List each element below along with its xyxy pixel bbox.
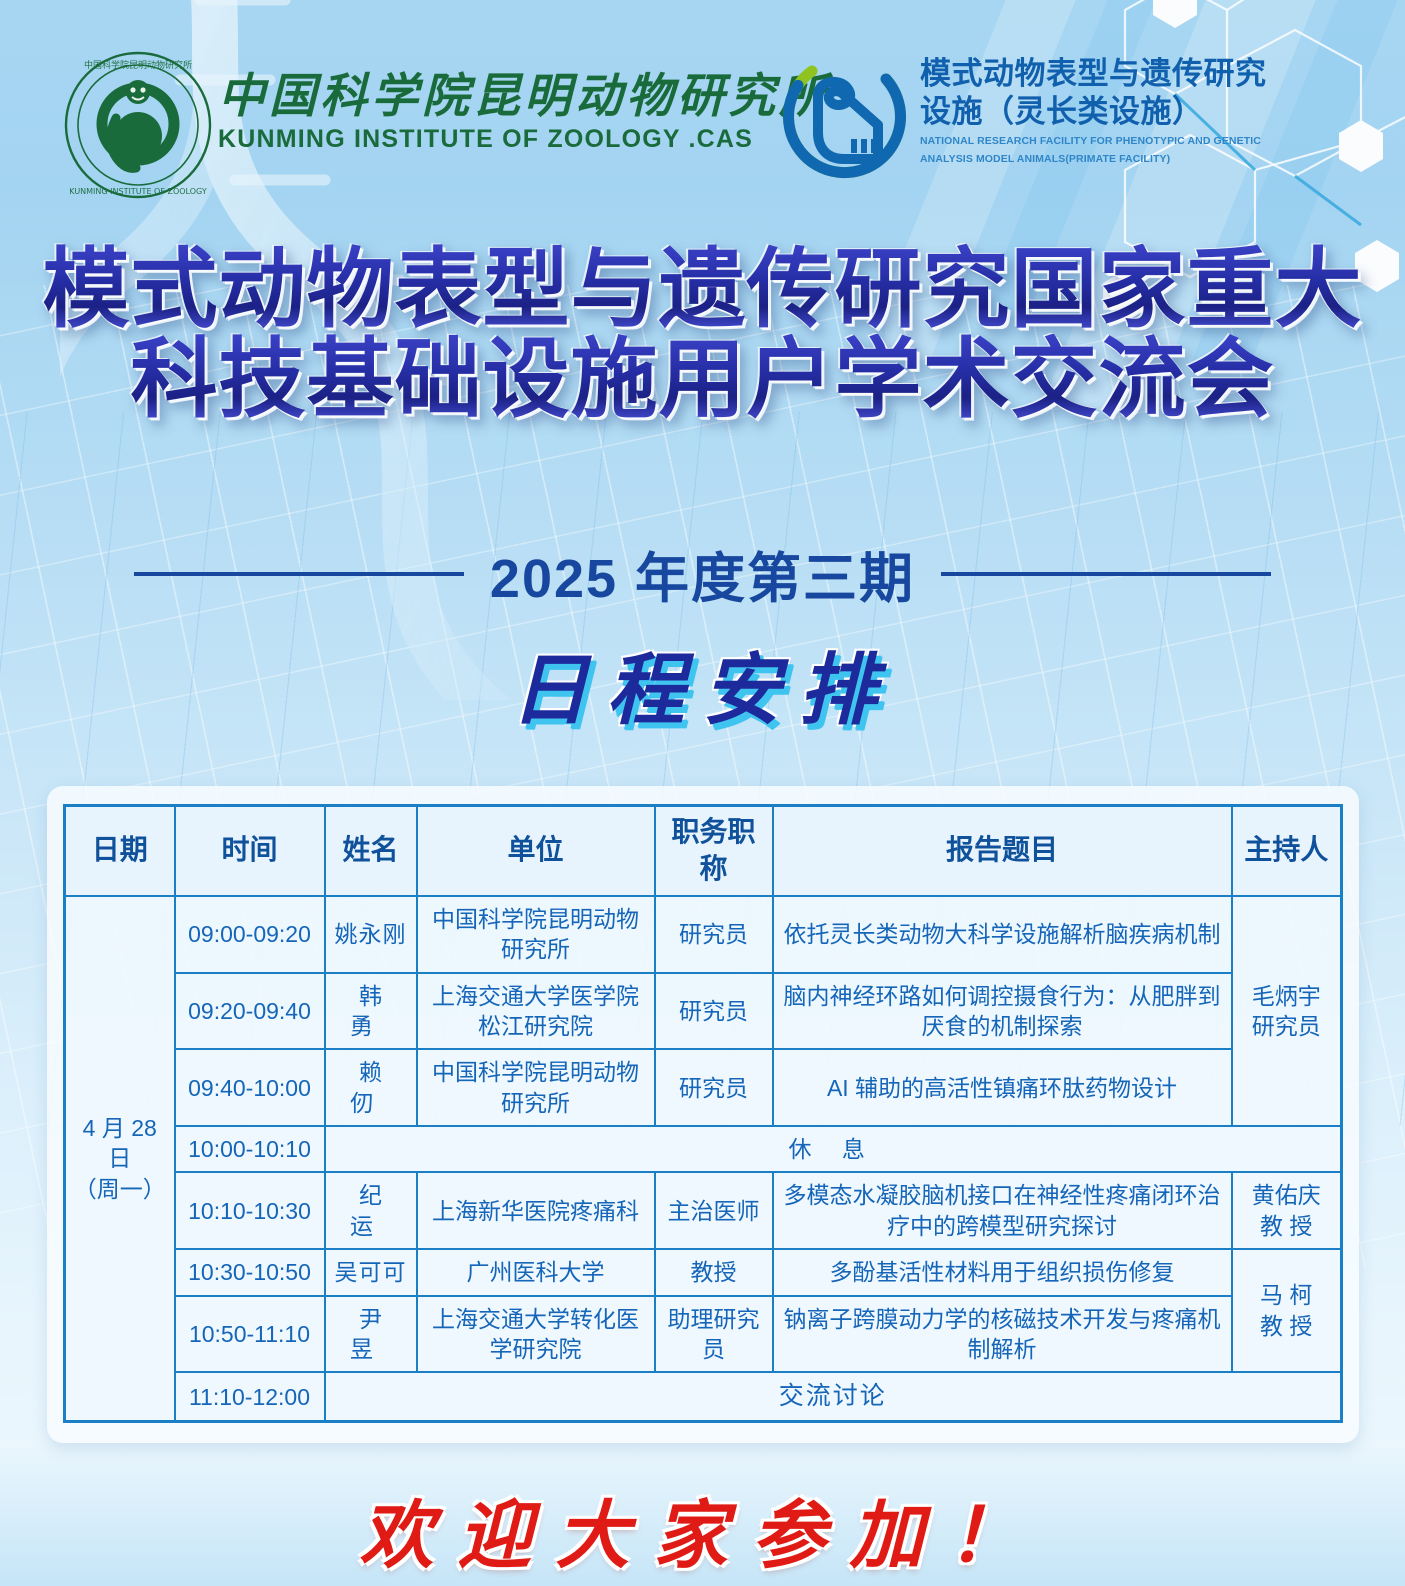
cell-job-title: 助理研究员 [655,1296,773,1373]
primate-facility-logo-icon [782,55,914,185]
cell-host: 黄佑庆 教 授 [1232,1172,1342,1249]
cell-speaker-name: 吴可可 [325,1249,417,1295]
host-role: 教 授 [1239,1211,1335,1241]
cell-job-title: 主治医师 [655,1172,773,1249]
th-job-title: 职务职称 [655,806,773,896]
issue-row: 2025 年度第三期 [0,534,1405,613]
issue-rule-left [134,572,464,576]
schedule-heading: 日程安排 [0,628,1405,740]
table-row: 09:40-10:00 赖 仞 中国科学院昆明动物研究所 研究员 AI 辅助的高… [65,1049,1342,1126]
cell-topic: 钠离子跨膜动力学的核磁技术开发与疼痛机制解析 [773,1296,1232,1373]
cell-speaker-name: 姚永刚 [325,896,417,973]
host-name: 毛炳宇 [1239,981,1335,1011]
cell-speaker-name: 韩 勇 [325,973,417,1050]
cell-organization: 上海交通大学医学院松江研究院 [417,973,655,1050]
issue-text: 2025 年度第三期 [490,534,915,613]
cell-topic: 多模态水凝胶脑机接口在神经性疼痛闭环治疗中的跨模型研究探讨 [773,1172,1232,1249]
kiz-nameplate: 中国科学院昆明动物研究所 KUNMING INSTITUTE OF ZOOLOG… [218,72,778,154]
th-time: 时间 [175,806,325,896]
cell-organization: 上海新华医院疼痛科 [417,1172,655,1249]
main-title-line2: 科技基础设施用户学术交流会 [0,334,1405,424]
svg-text:中国科学院昆明动物研究所: 中国科学院昆明动物研究所 [84,59,192,71]
cell-organization: 中国科学院昆明动物研究所 [417,1049,655,1126]
cell-discussion-label: 交流讨论 [325,1372,1342,1422]
cell-host: 毛炳宇 研究员 [1232,896,1342,1126]
facility-name-line1: 模式动物表型与遗传研究 [920,55,1350,93]
cell-time: 10:10-10:30 [175,1172,325,1249]
date-value: 4 月 28 日 [72,1113,168,1174]
table-row-discussion: 11:10-12:00 交流讨论 [65,1372,1342,1422]
primate-facility-nameplate: 模式动物表型与遗传研究 设施（灵长类设施） NATIONAL RESEARCH … [920,55,1350,167]
weekday-value: （周一） [72,1174,168,1204]
table-row-break: 10:00-10:10 休 息 [65,1126,1342,1172]
host-role: 研究员 [1239,1011,1335,1041]
kiz-name-chinese: 中国科学院昆明动物研究所 [218,72,778,121]
host-name: 黄佑庆 [1239,1180,1335,1210]
cell-job-title: 研究员 [655,1049,773,1126]
kiz-name-english: KUNMING INSTITUTE OF ZOOLOGY .CAS [218,125,778,154]
th-name: 姓名 [325,806,417,896]
poster-root: 中国科学院昆明动物研究所 KUNMING INSTITUTE OF ZOOLOG… [0,0,1405,1586]
table-row: 10:30-10:50 吴可可 广州医科大学 教授 多酚基活性材料用于组织损伤修… [65,1249,1342,1295]
svg-text:KUNMING INSTITUTE OF ZOOLOGY: KUNMING INSTITUTE OF ZOOLOGY [69,187,207,196]
cell-organization: 广州医科大学 [417,1249,655,1295]
host-name: 马 柯 [1239,1280,1335,1310]
cell-time: 11:10-12:00 [175,1372,325,1422]
th-host: 主持人 [1232,806,1342,896]
facility-name-line2: 设施（灵长类设施） [920,93,1350,131]
cell-organization: 上海交通大学转化医学研究院 [417,1296,655,1373]
cell-speaker-name: 尹 昱 [325,1296,417,1373]
cell-topic: 依托灵长类动物大科学设施解析脑疾病机制 [773,896,1232,973]
cell-job-title: 研究员 [655,973,773,1050]
th-date: 日期 [65,806,175,896]
cell-date: 4 月 28 日 （周一） [65,896,175,1422]
table-row: 10:50-11:10 尹 昱 上海交通大学转化医学研究院 助理研究员 钠离子跨… [65,1296,1342,1373]
cell-organization: 中国科学院昆明动物研究所 [417,896,655,973]
cell-job-title: 教授 [655,1249,773,1295]
cell-host: 马 柯 教 授 [1232,1249,1342,1372]
table-row: 10:10-10:30 纪 运 上海新华医院疼痛科 主治医师 多模态水凝胶脑机接… [65,1172,1342,1249]
cell-speaker-name: 纪 运 [325,1172,417,1249]
issue-rule-right [941,572,1271,576]
cell-job-title: 研究员 [655,896,773,973]
kiz-seal-icon: 中国科学院昆明动物研究所 KUNMING INSTITUTE OF ZOOLOG… [58,48,218,203]
agenda-table: 日期 时间 姓名 单位 职务职称 报告题目 主持人 4 月 28 日 （周一） … [63,804,1343,1423]
poster-header: 中国科学院昆明动物研究所 KUNMING INSTITUTE OF ZOOLOG… [0,0,1405,205]
table-row: 09:20-09:40 韩 勇 上海交通大学医学院松江研究院 研究员 脑内神经环… [65,973,1342,1050]
cell-time: 10:30-10:50 [175,1249,325,1295]
cell-time: 10:50-11:10 [175,1296,325,1373]
host-role: 教 授 [1239,1311,1335,1341]
cell-topic: AI 辅助的高活性镇痛环肽药物设计 [773,1049,1232,1126]
main-title-line1: 模式动物表型与遗传研究国家重大 [0,244,1405,334]
table-header-row: 日期 时间 姓名 单位 职务职称 报告题目 主持人 [65,806,1342,896]
cell-speaker-name: 赖 仞 [325,1049,417,1126]
th-topic: 报告题目 [773,806,1232,896]
facility-name-english-line1: NATIONAL RESEARCH FACILITY FOR PHENOTYPI… [920,134,1350,149]
facility-name-english-line2: ANALYSIS MODEL ANIMALS(PRIMATE FACILITY) [920,152,1350,167]
welcome-footer: 欢迎大家参加！ [0,1476,1405,1583]
cell-break-label: 休 息 [325,1126,1342,1172]
table-row: 4 月 28 日 （周一） 09:00-09:20 姚永刚 中国科学院昆明动物研… [65,896,1342,973]
cell-time: 09:40-10:00 [175,1049,325,1126]
cell-topic: 多酚基活性材料用于组织损伤修复 [773,1249,1232,1295]
th-org: 单位 [417,806,655,896]
agenda-panel: 日期 时间 姓名 单位 职务职称 报告题目 主持人 4 月 28 日 （周一） … [47,786,1359,1443]
cell-time: 09:00-09:20 [175,896,325,973]
cell-time: 09:20-09:40 [175,973,325,1050]
main-title: 模式动物表型与遗传研究国家重大 科技基础设施用户学术交流会 [0,244,1405,425]
cell-time: 10:00-10:10 [175,1126,325,1172]
cell-topic: 脑内神经环路如何调控摄食行为：从肥胖到厌食的机制探索 [773,973,1232,1050]
